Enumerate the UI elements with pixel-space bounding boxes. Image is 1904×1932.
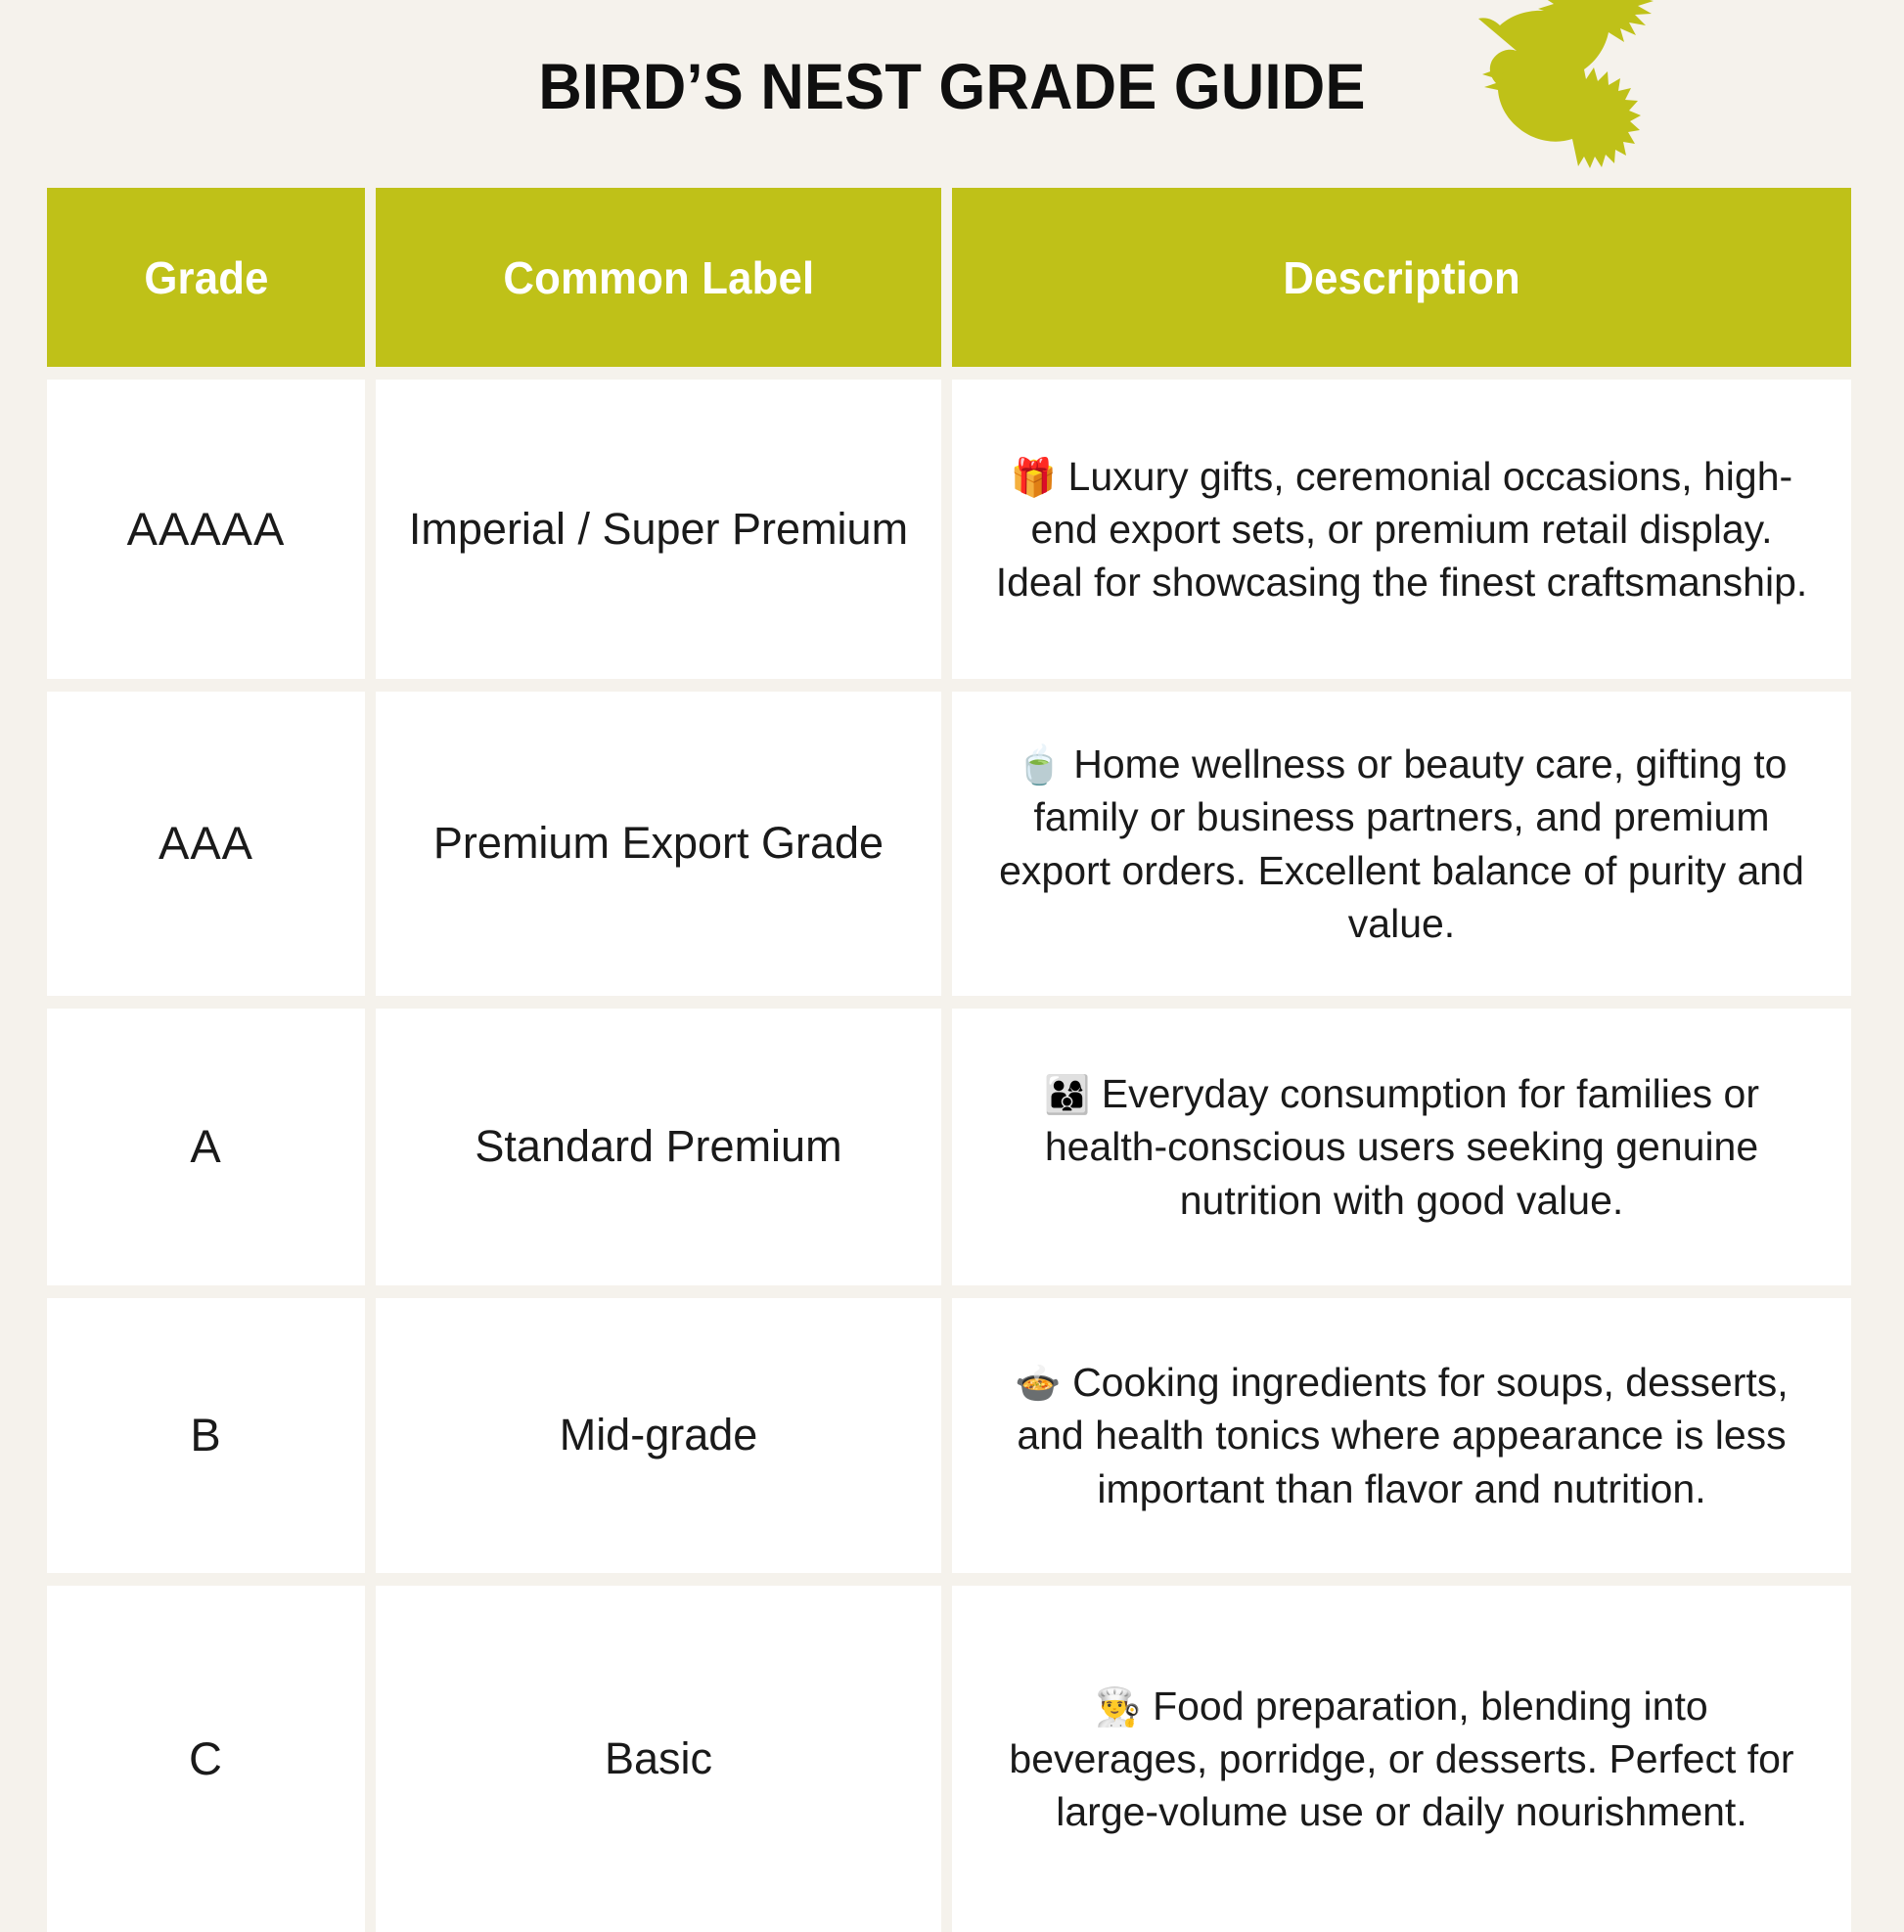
- column-header-grade-label: Grade: [144, 251, 268, 304]
- table-row-grade: A: [47, 1009, 365, 1285]
- wrapped-gift-emoji: 🎁: [1011, 456, 1057, 499]
- table-row-description: 🍵 Home wellness or beauty care, gifting …: [952, 692, 1851, 996]
- table-row-label: Mid-grade: [376, 1298, 941, 1573]
- table-row-description: 🍲 Cooking ingredients for soups, dessert…: [952, 1298, 1851, 1573]
- column-header-description-label: Description: [1283, 251, 1519, 304]
- teacup-emoji: 🍵: [1017, 743, 1063, 786]
- table-row-description-text: Cooking ingredients for soups, desserts,…: [1017, 1360, 1788, 1510]
- table-row-label: Premium Export Grade: [376, 692, 941, 996]
- page-title: BIRD’S NEST GRADE GUIDE: [67, 49, 1837, 123]
- column-header-common-label: Common Label: [376, 188, 941, 367]
- table-row-grade: C: [47, 1586, 365, 1932]
- table-row-label: Basic: [376, 1586, 941, 1932]
- man-cook-emoji: 👨‍🍳: [1095, 1685, 1141, 1729]
- table-row-label: Standard Premium: [376, 1009, 941, 1285]
- column-header-description: Description: [952, 188, 1851, 367]
- table-row-grade: AAAAA: [47, 380, 365, 679]
- table-row-description: 👨‍👩‍👦 Everyday consumption for families …: [952, 1009, 1851, 1285]
- table-row-label: Imperial / Super Premium: [376, 380, 941, 679]
- column-header-grade: Grade: [47, 188, 365, 367]
- grade-table: Grade Common Label Description AAAAA Imp…: [47, 188, 1857, 1932]
- table-row-description: 👨‍🍳 Food preparation, blending into beve…: [952, 1586, 1851, 1932]
- table-row-description: 🎁 Luxury gifts, ceremonial occasions, hi…: [952, 380, 1851, 679]
- table-row-description-text: Everyday consumption for families or hea…: [1045, 1071, 1759, 1222]
- title-bar: BIRD’S NEST GRADE GUIDE: [0, 0, 1904, 186]
- table-row-description-text: Luxury gifts, ceremonial occasions, high…: [996, 454, 1808, 605]
- family-emoji: 👨‍👩‍👦: [1044, 1073, 1090, 1116]
- pot-of-food-emoji: 🍲: [1015, 1362, 1061, 1405]
- table-row-grade: AAA: [47, 692, 365, 996]
- grade-guide-page: BIRD’S NEST GRADE GUIDE Grade Common Lab…: [0, 0, 1904, 1904]
- column-header-common-label-label: Common Label: [503, 251, 814, 304]
- table-row-description-text: Home wellness or beauty care, gifting to…: [999, 741, 1804, 945]
- table-row-grade: B: [47, 1298, 365, 1573]
